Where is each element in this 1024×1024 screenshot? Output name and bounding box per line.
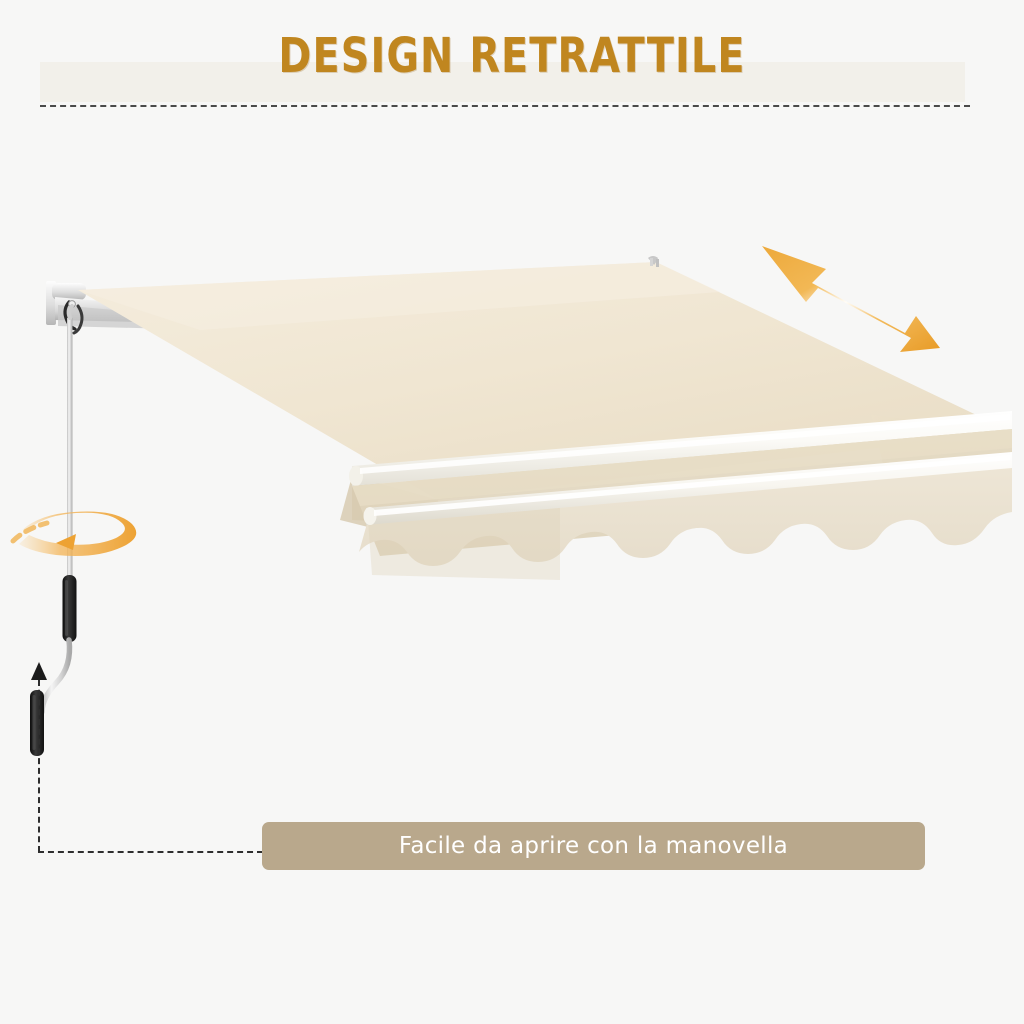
canopy-apex-hardware: [648, 256, 659, 267]
header-divider: [40, 105, 970, 107]
crank-rotation-arrow: [13, 512, 136, 557]
leader-line-horizontal: [38, 851, 263, 853]
wall-mount-bracket: [46, 281, 262, 333]
leader-line-vertical: [38, 680, 40, 852]
product-feature-slide: DESIGN RETRATTILE: [0, 0, 1024, 1024]
scalloped-valance: [359, 462, 1012, 580]
leader-arrowhead-icon: [31, 662, 47, 680]
caption-bar: Facile da aprire con la manovella: [262, 822, 925, 870]
front-roller-bar-lower: [364, 452, 1013, 525]
extend-retract-arrow: [762, 246, 940, 352]
awning-canopy: [78, 262, 1012, 500]
front-roller-bar-upper: [349, 411, 1012, 486]
page-title: DESIGN RETRATTILE: [41, 28, 983, 84]
caption-text: Facile da aprire con la manovella: [399, 833, 788, 859]
awning-apron: [352, 429, 1012, 556]
canopy-left-edge: [340, 476, 438, 540]
product-illustration: [0, 0, 1024, 1024]
crank-handle: [30, 306, 77, 756]
